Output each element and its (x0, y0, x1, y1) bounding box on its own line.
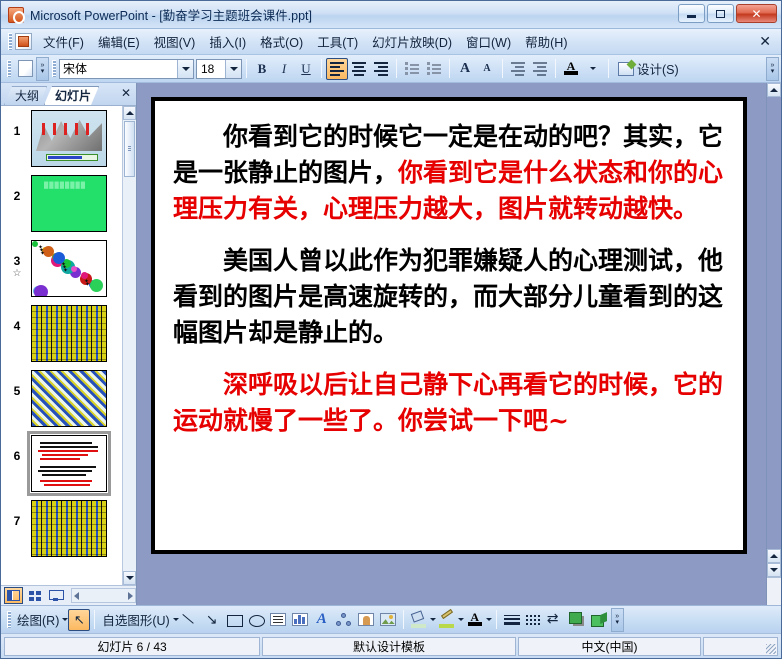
arrow-down-icon (126, 576, 134, 580)
thumbnail-list-wrap: 1 2 ████████ 3 ☆ (1, 105, 136, 585)
italic-icon: I (282, 61, 286, 77)
thumbnail-row-5[interactable]: 5 (1, 370, 122, 427)
toolbar-separator-3 (396, 59, 397, 78)
new-document-button[interactable] (14, 58, 36, 80)
scrollbar-thumb[interactable] (124, 121, 135, 177)
close-pane-icon[interactable]: ✕ (121, 86, 131, 100)
slides-pane: 大纲 幻灯片 ✕ 1 2 ████████ (1, 83, 137, 605)
thumbnail-number-1: 1 (3, 110, 31, 138)
slide-scrollbar-track[interactable] (767, 97, 781, 549)
increase-font-icon: A (460, 61, 470, 77)
window-controls: ✕ (678, 4, 777, 23)
thumbnail-row-4[interactable]: 4 (1, 305, 122, 362)
thumbnail-row-1[interactable]: 1 (1, 110, 122, 167)
view-button-group (1, 585, 136, 605)
status-design-template[interactable]: 默认设计模板 (262, 637, 516, 656)
toolbar-grip-2[interactable] (52, 60, 56, 77)
underline-button[interactable]: U (295, 58, 317, 80)
autoshapes-button[interactable]: 自选图形(U) (99, 610, 172, 629)
thumbnail-image-4[interactable] (31, 305, 107, 362)
arrow-icon (202, 611, 222, 629)
line-color-button[interactable] (436, 609, 458, 631)
thumbnail-number-5: 5 (3, 370, 31, 398)
word-art-button[interactable]: A (311, 609, 333, 631)
font-name-combobox[interactable]: 宋体 (59, 59, 194, 79)
menu-item-tools[interactable]: 工具(T) (310, 29, 365, 54)
bold-icon: B (258, 61, 267, 77)
slide-show-icon (49, 590, 62, 601)
text-box-button[interactable] (267, 609, 289, 631)
toolbar-separator-2 (321, 59, 322, 78)
align-left-button[interactable] (326, 58, 348, 80)
draw-font-color-button[interactable]: A (464, 609, 486, 631)
close-icon: ✕ (737, 5, 776, 22)
select-objects-button[interactable]: ↖ (68, 609, 90, 631)
design-icon (618, 62, 634, 76)
slide-canvas[interactable]: 你看到它的时候它一定是在动的吧？其实，它是一张静止的图片，你看到它是什么状态和你… (137, 83, 766, 605)
slide-text-placeholder[interactable]: 你看到它的时候它一定是在动的吧？其实，它是一张静止的图片，你看到它是什么状态和你… (155, 119, 743, 455)
thumbnail-image-3[interactable]: ✦✦✦✦✦✦✦✦ (31, 240, 107, 297)
align-center-button[interactable] (348, 58, 370, 80)
font-color-button[interactable]: A (560, 58, 582, 80)
thumbnail-image-2[interactable]: ████████ (31, 175, 107, 232)
numbered-list-button[interactable] (401, 58, 423, 80)
thumbnail-image-7[interactable] (31, 500, 107, 557)
rectangle-icon (224, 611, 244, 629)
draw-font-color-dropdown-icon[interactable] (486, 618, 492, 621)
arrow-up-icon (126, 111, 134, 115)
decrease-indent-button[interactable] (507, 58, 529, 80)
decrease-font-size-button[interactable]: A (476, 58, 498, 80)
line-style-button[interactable] (501, 609, 523, 631)
slide-vertical-scrollbar[interactable] (766, 83, 781, 605)
word-art-icon: A (317, 611, 327, 628)
font-name-dropdown-icon[interactable] (177, 60, 193, 78)
tab-outline[interactable]: 大纲 (4, 86, 47, 105)
thumbnail-image-5[interactable] (31, 370, 107, 427)
insert-picture-button[interactable] (377, 609, 399, 631)
draw-separator-3 (496, 610, 497, 629)
bullet-list-button[interactable] (423, 58, 445, 80)
chevron-down-icon (590, 67, 596, 70)
thumbnail-row-2[interactable]: 2 ████████ (1, 175, 122, 232)
arrow-style-icon (547, 612, 565, 628)
pane-horizontal-scrollbar[interactable] (71, 588, 136, 603)
align-right-button[interactable] (370, 58, 392, 80)
paragraph-2-run-1: 美国人曾以此作为犯罪嫌疑人的心理测试，他看到的图片是高速旋转的，而大部分儿童看到… (173, 246, 723, 347)
restore-button[interactable] (707, 4, 734, 23)
thumbnail-number-3: 3 ☆ (3, 240, 31, 279)
next-slide-button[interactable] (767, 563, 781, 577)
line-style-icon (504, 615, 520, 625)
design-button[interactable]: 设计(S) (613, 57, 684, 80)
arrow-right-icon[interactable] (128, 592, 133, 600)
scroll-down-button[interactable] (123, 571, 136, 585)
line-color-dropdown-icon[interactable] (458, 618, 464, 621)
diagram-icon (336, 613, 352, 627)
menu-item-window[interactable]: 窗口(W) (459, 29, 518, 54)
design-label: 设计(S) (637, 59, 679, 78)
dash-style-button[interactable] (523, 609, 545, 631)
previous-slide-button[interactable] (767, 549, 781, 563)
draw-separator-2 (403, 610, 404, 629)
insert-picture-icon (380, 613, 396, 626)
thumbnail-row-7[interactable]: 7 (1, 500, 122, 557)
oval-icon (246, 611, 266, 629)
minimize-icon (687, 15, 696, 18)
diagram-button[interactable] (333, 609, 355, 631)
align-center-icon (352, 62, 366, 76)
insert-chart-icon (292, 613, 308, 626)
document-icon (15, 33, 32, 50)
thumbnail-list: 1 2 ████████ 3 ☆ (1, 106, 122, 585)
insert-chart-button[interactable] (289, 609, 311, 631)
drawing-toolbar: 绘图(R) ↖ 自选图形(U) A A »▾ (1, 605, 781, 633)
fill-color-icon (410, 611, 428, 628)
toolbar-overflow-left[interactable]: »▾ (36, 57, 49, 81)
menu-grip[interactable] (8, 33, 12, 50)
menu-item-format[interactable]: 格式(O) (253, 29, 310, 54)
current-slide[interactable]: 你看到它的时候它一定是在动的吧？其实，它是一张静止的图片，你看到它是什么状态和你… (151, 97, 747, 554)
3d-style-button[interactable] (589, 609, 611, 631)
align-right-icon (374, 62, 388, 76)
line-icon (180, 611, 200, 629)
arrow-style-button[interactable] (545, 609, 567, 631)
underline-icon: U (301, 61, 310, 77)
menu-item-help[interactable]: 帮助(H) (518, 29, 574, 54)
restore-icon (716, 10, 725, 18)
status-slide-position: 幻灯片 6 / 43 (4, 637, 260, 656)
clip-art-icon (358, 613, 374, 626)
thumbnail-number-2: 2 (3, 175, 31, 203)
font-color-dropdown[interactable] (582, 58, 604, 80)
line-color-icon (438, 611, 456, 628)
title-bar: Microsoft PowerPoint - [勤奋学习主题班会课件.ppt] … (1, 1, 781, 29)
thumbnail-number-3-text: 3 (14, 254, 21, 268)
thumbnail-scrollbar[interactable] (122, 106, 136, 585)
3d-style-icon (591, 612, 608, 627)
numbered-list-icon (405, 62, 419, 75)
minimize-button[interactable] (678, 4, 705, 23)
line-button[interactable] (179, 609, 201, 631)
paragraph-3-run-1: 深呼吸以后让自己静下心再看它的时候，它的运动就慢了一些了。你尝试一下吧~ (173, 370, 723, 435)
thumbnail-row-6[interactable]: 6 (1, 435, 122, 492)
decrease-indent-icon (511, 62, 525, 76)
increase-indent-icon (533, 62, 547, 76)
double-arrow-down-icon (770, 568, 778, 572)
thumbnail-number-7: 7 (3, 500, 31, 528)
thumbnail-number-6: 6 (3, 435, 31, 463)
animation-star-icon: ☆ (3, 268, 31, 279)
pane-tab-strip: 大纲 幻灯片 ✕ (1, 83, 136, 105)
slide-sorter-button[interactable] (25, 587, 44, 604)
fill-color-button[interactable] (408, 609, 430, 631)
drawing-toolbar-grip[interactable] (7, 611, 11, 628)
italic-button[interactable]: I (273, 58, 295, 80)
close-button[interactable]: ✕ (736, 4, 777, 23)
workspace: 大纲 幻灯片 ✕ 1 2 ████████ (1, 83, 781, 605)
rectangle-button[interactable] (223, 609, 245, 631)
normal-view-icon (7, 590, 20, 601)
new-document-icon (18, 60, 33, 77)
arrow-button[interactable] (201, 609, 223, 631)
font-color-icon: A (468, 613, 482, 626)
shadow-style-button[interactable] (567, 609, 589, 631)
slide-editing-area: 你看到它的时候它一定是在动的吧？其实，它是一张静止的图片，你看到它是什么状态和你… (137, 83, 781, 605)
bold-button[interactable]: B (251, 58, 273, 80)
select-arrow-icon: ↖ (74, 612, 85, 628)
menu-item-slideshow[interactable]: 幻灯片放映(D) (365, 29, 459, 54)
menu-bar: 文件(F) 编辑(E) 视图(V) 插入(I) 格式(O) 工具(T) 幻灯片放… (1, 29, 781, 55)
slide-paragraph-1: 你看到它的时候它一定是在动的吧？其实，它是一张静止的图片，你看到它是什么状态和你… (173, 119, 725, 227)
window-title: Microsoft PowerPoint - [勤奋学习主题班会课件.ppt] (30, 5, 312, 24)
shadow-style-icon (569, 612, 586, 627)
align-left-icon (330, 62, 344, 76)
tab-slides[interactable]: 幻灯片 (44, 86, 99, 105)
status-bar: 幻灯片 6 / 43 默认设计模板 中文(中国) (1, 633, 781, 658)
increase-font-size-button[interactable]: A (454, 58, 476, 80)
toolbar-overflow-right[interactable]: »▾ (766, 57, 779, 81)
fill-color-dropdown-icon[interactable] (430, 618, 436, 621)
scrollbar-track[interactable] (123, 120, 136, 571)
font-size-combobox[interactable]: 18 (196, 59, 242, 79)
close-document-icon[interactable]: ✕ (759, 33, 771, 49)
menu-item-file[interactable]: 文件(F) (36, 29, 91, 54)
increase-indent-button[interactable] (529, 58, 551, 80)
formatting-toolbar: »▾ 宋体 18 B I U (1, 55, 781, 83)
font-size-value: 18 (201, 62, 214, 76)
powerpoint-icon (8, 7, 24, 23)
draw-menu-button[interactable]: 绘图(R) (14, 610, 62, 629)
toolbar-separator-5 (502, 59, 503, 78)
draw-font-color-letter: A (470, 613, 479, 622)
drawing-toolbar-overflow[interactable]: »▾ (611, 608, 624, 632)
scroll-up-button[interactable] (123, 106, 136, 120)
slide-scroll-up-button[interactable] (767, 83, 781, 97)
font-size-dropdown-icon[interactable] (225, 60, 241, 78)
status-language[interactable]: 中文(中国) (518, 637, 701, 656)
draw-separator-1 (94, 610, 95, 629)
font-color-letter: A (567, 62, 576, 71)
status-resize-grip[interactable] (703, 637, 778, 656)
arrow-up-icon (770, 88, 778, 92)
toolbar-separator-6 (555, 59, 556, 78)
menu-item-insert[interactable]: 插入(I) (202, 29, 253, 54)
thumbnail-row-3[interactable]: 3 ☆ ✦✦✦✦✦✦✦✦ (1, 240, 122, 297)
slide-show-button[interactable] (46, 587, 65, 604)
scrollbar-spacer (767, 577, 781, 605)
slide-paragraph-3: 深呼吸以后让自己静下心再看它的时候，它的运动就慢了一些了。你尝试一下吧~ (173, 367, 725, 439)
thumbnail-image-1[interactable] (31, 110, 107, 167)
oval-button[interactable] (245, 609, 267, 631)
toolbar-separator-7 (608, 59, 609, 78)
toolbar-grip-1[interactable] (7, 60, 11, 77)
decrease-font-icon: A (483, 63, 490, 74)
font-name-value: 宋体 (63, 60, 87, 77)
dash-style-icon (526, 615, 542, 625)
toolbar-separator-1 (246, 59, 247, 78)
normal-view-button[interactable] (4, 587, 23, 604)
bullet-list-icon (427, 62, 441, 75)
arrow-left-icon[interactable] (74, 592, 79, 600)
menu-item-view[interactable]: 视图(V) (147, 29, 203, 54)
powerpoint-window: Microsoft PowerPoint - [勤奋学习主题班会课件.ppt] … (0, 0, 782, 659)
thumbnail-number-4: 4 (3, 305, 31, 333)
toolbar-separator-4 (449, 59, 450, 78)
menu-item-edit[interactable]: 编辑(E) (91, 29, 147, 54)
clip-art-button[interactable] (355, 609, 377, 631)
slide-paragraph-2: 美国人曾以此作为犯罪嫌疑人的心理测试，他看到的图片是高速旋转的，而大部分儿童看到… (173, 243, 725, 351)
text-box-icon (270, 613, 286, 626)
thumbnail-image-6[interactable] (31, 435, 107, 492)
font-color-icon: A (564, 62, 578, 75)
double-arrow-up-icon (770, 554, 778, 558)
slide-sorter-icon (29, 591, 41, 601)
